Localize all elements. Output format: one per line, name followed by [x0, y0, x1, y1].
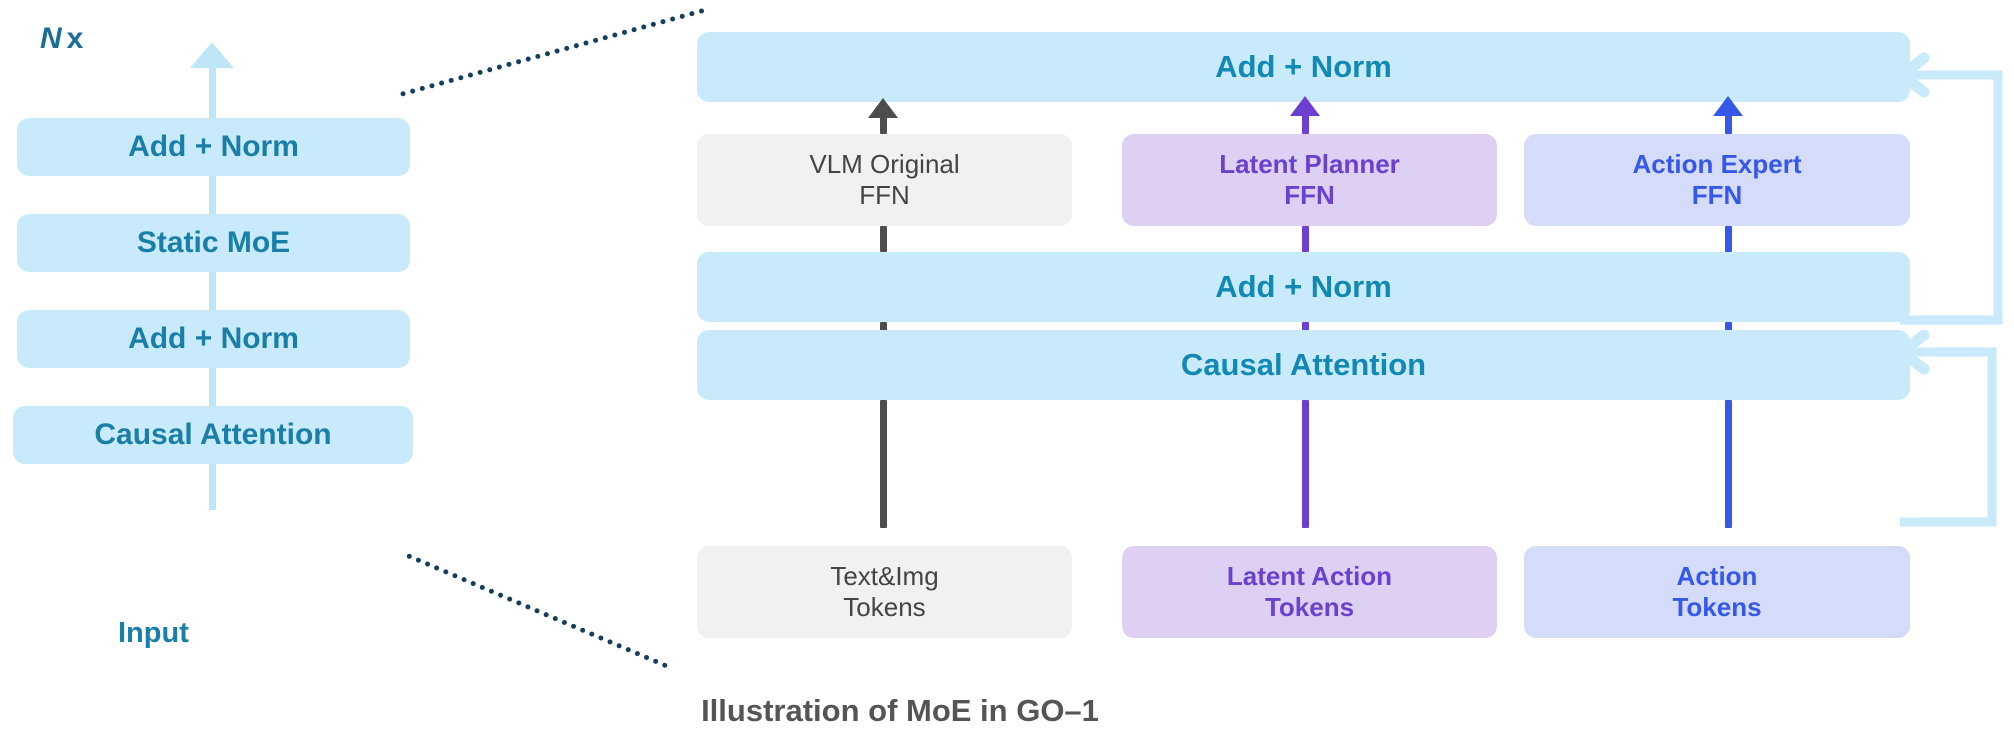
- left-block-label: Add + Norm: [128, 129, 299, 164]
- token-box-line1: Action: [1677, 561, 1758, 592]
- flow-arrowhead-vlm-icon: [868, 98, 898, 118]
- token-box-line2: Tokens: [1265, 592, 1354, 623]
- figure-caption: Illustration of MoE in GO–1: [0, 693, 1800, 729]
- flow-line-text-img-tokens: [880, 400, 887, 528]
- token-box-action[interactable]: Action Tokens: [1524, 546, 1910, 638]
- expert-box-line2: FFN: [1284, 180, 1335, 211]
- repeat-count-x: x: [62, 22, 84, 55]
- expert-box-action-expert-ffn[interactable]: Action Expert FFN: [1524, 134, 1910, 226]
- expert-box-line2: FFN: [859, 180, 910, 211]
- expert-box-line1: Latent Planner: [1219, 149, 1400, 180]
- left-block-add-norm-bottom[interactable]: Add + Norm: [17, 310, 410, 368]
- left-flow-arrowhead-icon: [190, 42, 234, 68]
- left-block-label: Causal Attention: [94, 417, 331, 452]
- flow-line-vlm-up: [880, 116, 887, 134]
- flow-arrowhead-latent-planner-icon: [1290, 96, 1320, 116]
- right-bar-causal-attention[interactable]: Causal Attention: [697, 330, 1910, 400]
- flow-arrowhead-action-expert-icon: [1713, 96, 1743, 116]
- left-flow-line-top: [209, 66, 216, 118]
- token-box-line1: Latent Action: [1227, 561, 1392, 592]
- token-box-text-img[interactable]: Text&Img Tokens: [697, 546, 1072, 638]
- right-bar-label: Causal Attention: [1181, 347, 1426, 384]
- left-block-static-moe[interactable]: Static MoE: [17, 214, 410, 272]
- left-flow-line-3: [209, 368, 216, 406]
- expert-box-line1: VLM Original: [809, 149, 959, 180]
- flow-line-action-expert-mid: [1725, 226, 1732, 252]
- repeat-count-n: N: [40, 22, 62, 55]
- left-block-label: Add + Norm: [128, 321, 299, 356]
- left-flow-line-2: [209, 272, 216, 310]
- flow-line-vlm-mid: [880, 226, 887, 252]
- token-box-latent-action[interactable]: Latent Action Tokens: [1122, 546, 1497, 638]
- diagram-canvas: Nx Add + Norm Static MoE Add + Norm Caus…: [0, 0, 2014, 748]
- right-bar-add-norm-top[interactable]: Add + Norm: [697, 32, 1910, 102]
- flow-line-action-expert-up: [1725, 114, 1732, 134]
- left-block-label: Static MoE: [137, 225, 290, 260]
- dotted-connector-top: [400, 8, 705, 97]
- flow-line-latent-action-tokens: [1302, 400, 1309, 528]
- flow-line-latent-planner-mid: [1302, 226, 1309, 252]
- expert-box-line2: FFN: [1692, 180, 1743, 211]
- flow-line-action-tokens: [1725, 400, 1732, 528]
- token-box-line1: Text&Img: [830, 561, 938, 592]
- repeat-count-label: Nx: [40, 22, 83, 56]
- flow-line-latent-planner-up: [1302, 114, 1309, 134]
- expert-box-latent-planner-ffn[interactable]: Latent Planner FFN: [1122, 134, 1497, 226]
- right-bar-label: Add + Norm: [1215, 269, 1392, 306]
- left-flow-line-input: [209, 464, 216, 510]
- dotted-connector-bottom: [406, 553, 668, 669]
- token-box-line2: Tokens: [843, 592, 925, 623]
- input-label: Input: [118, 617, 189, 650]
- expert-box-vlm-original-ffn[interactable]: VLM Original FFN: [697, 134, 1072, 226]
- token-box-line2: Tokens: [1672, 592, 1761, 623]
- expert-box-line1: Action Expert: [1632, 149, 1801, 180]
- left-block-add-norm-top[interactable]: Add + Norm: [17, 118, 410, 176]
- left-flow-line-1: [209, 176, 216, 214]
- right-bar-add-norm-mid[interactable]: Add + Norm: [697, 252, 1910, 322]
- left-block-causal-attention[interactable]: Causal Attention: [13, 406, 413, 464]
- right-bar-label: Add + Norm: [1215, 49, 1392, 86]
